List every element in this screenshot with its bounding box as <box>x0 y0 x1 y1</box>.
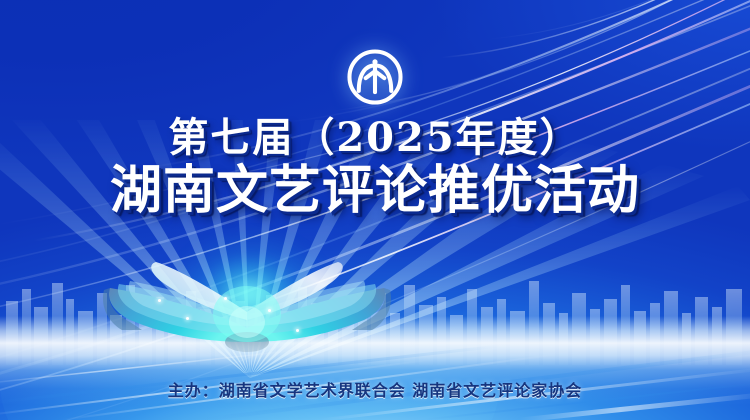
sparkle-dot <box>268 309 271 312</box>
open-book-illustration <box>52 250 442 360</box>
poster-canvas: 第七届（2025年度） 湖南文艺评论推优活动 主办：湖南省文学艺术界联合会 湖南… <box>0 0 750 420</box>
sparkle-dot <box>158 299 161 302</box>
sparkle-dot <box>224 297 227 300</box>
arch-emblem-icon <box>346 48 404 106</box>
sparkle-dot <box>186 317 189 320</box>
sparkle-dot <box>296 329 299 332</box>
